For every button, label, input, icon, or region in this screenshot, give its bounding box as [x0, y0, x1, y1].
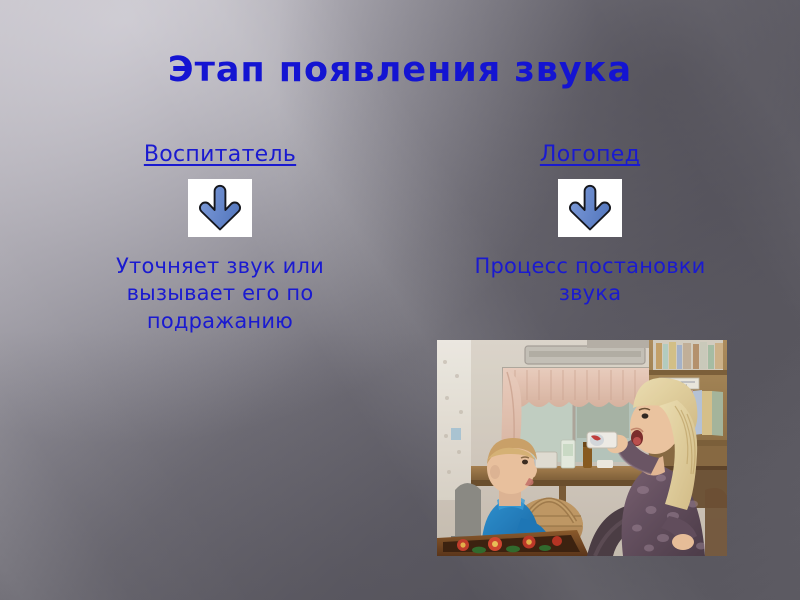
slide-canvas: Этап появления звука Воспитатель: [0, 0, 800, 600]
column-body-line: Процесс постановки: [425, 253, 755, 280]
column-body-line: Уточняет звук или: [55, 253, 385, 280]
session-photo-image: [437, 340, 727, 556]
page-title: Этап появления звука: [0, 50, 800, 90]
column-heading-speech-therapist: Логопед: [425, 142, 755, 167]
column-body-line: звука: [425, 280, 755, 307]
arrow-down-icon-box-educator: [188, 179, 252, 237]
column-speech-therapist: Логопед Процесс постановки звука: [425, 142, 755, 308]
column-body-educator: Уточняет звук или вызывает его по подраж…: [55, 253, 385, 335]
arrow-down-icon-box-speech-therapist: [558, 179, 622, 237]
arrow-down-icon: [565, 184, 615, 232]
column-body-line: вызывает его по: [55, 280, 385, 307]
column-body-speech-therapist: Процесс постановки звука: [425, 253, 755, 308]
column-heading-educator: Воспитатель: [55, 142, 385, 167]
arrow-down-icon: [195, 184, 245, 232]
column-educator: Воспитатель Уточняет звук или вызыв: [55, 142, 385, 335]
session-photo: [437, 340, 727, 556]
column-body-line: подражанию: [55, 308, 385, 335]
